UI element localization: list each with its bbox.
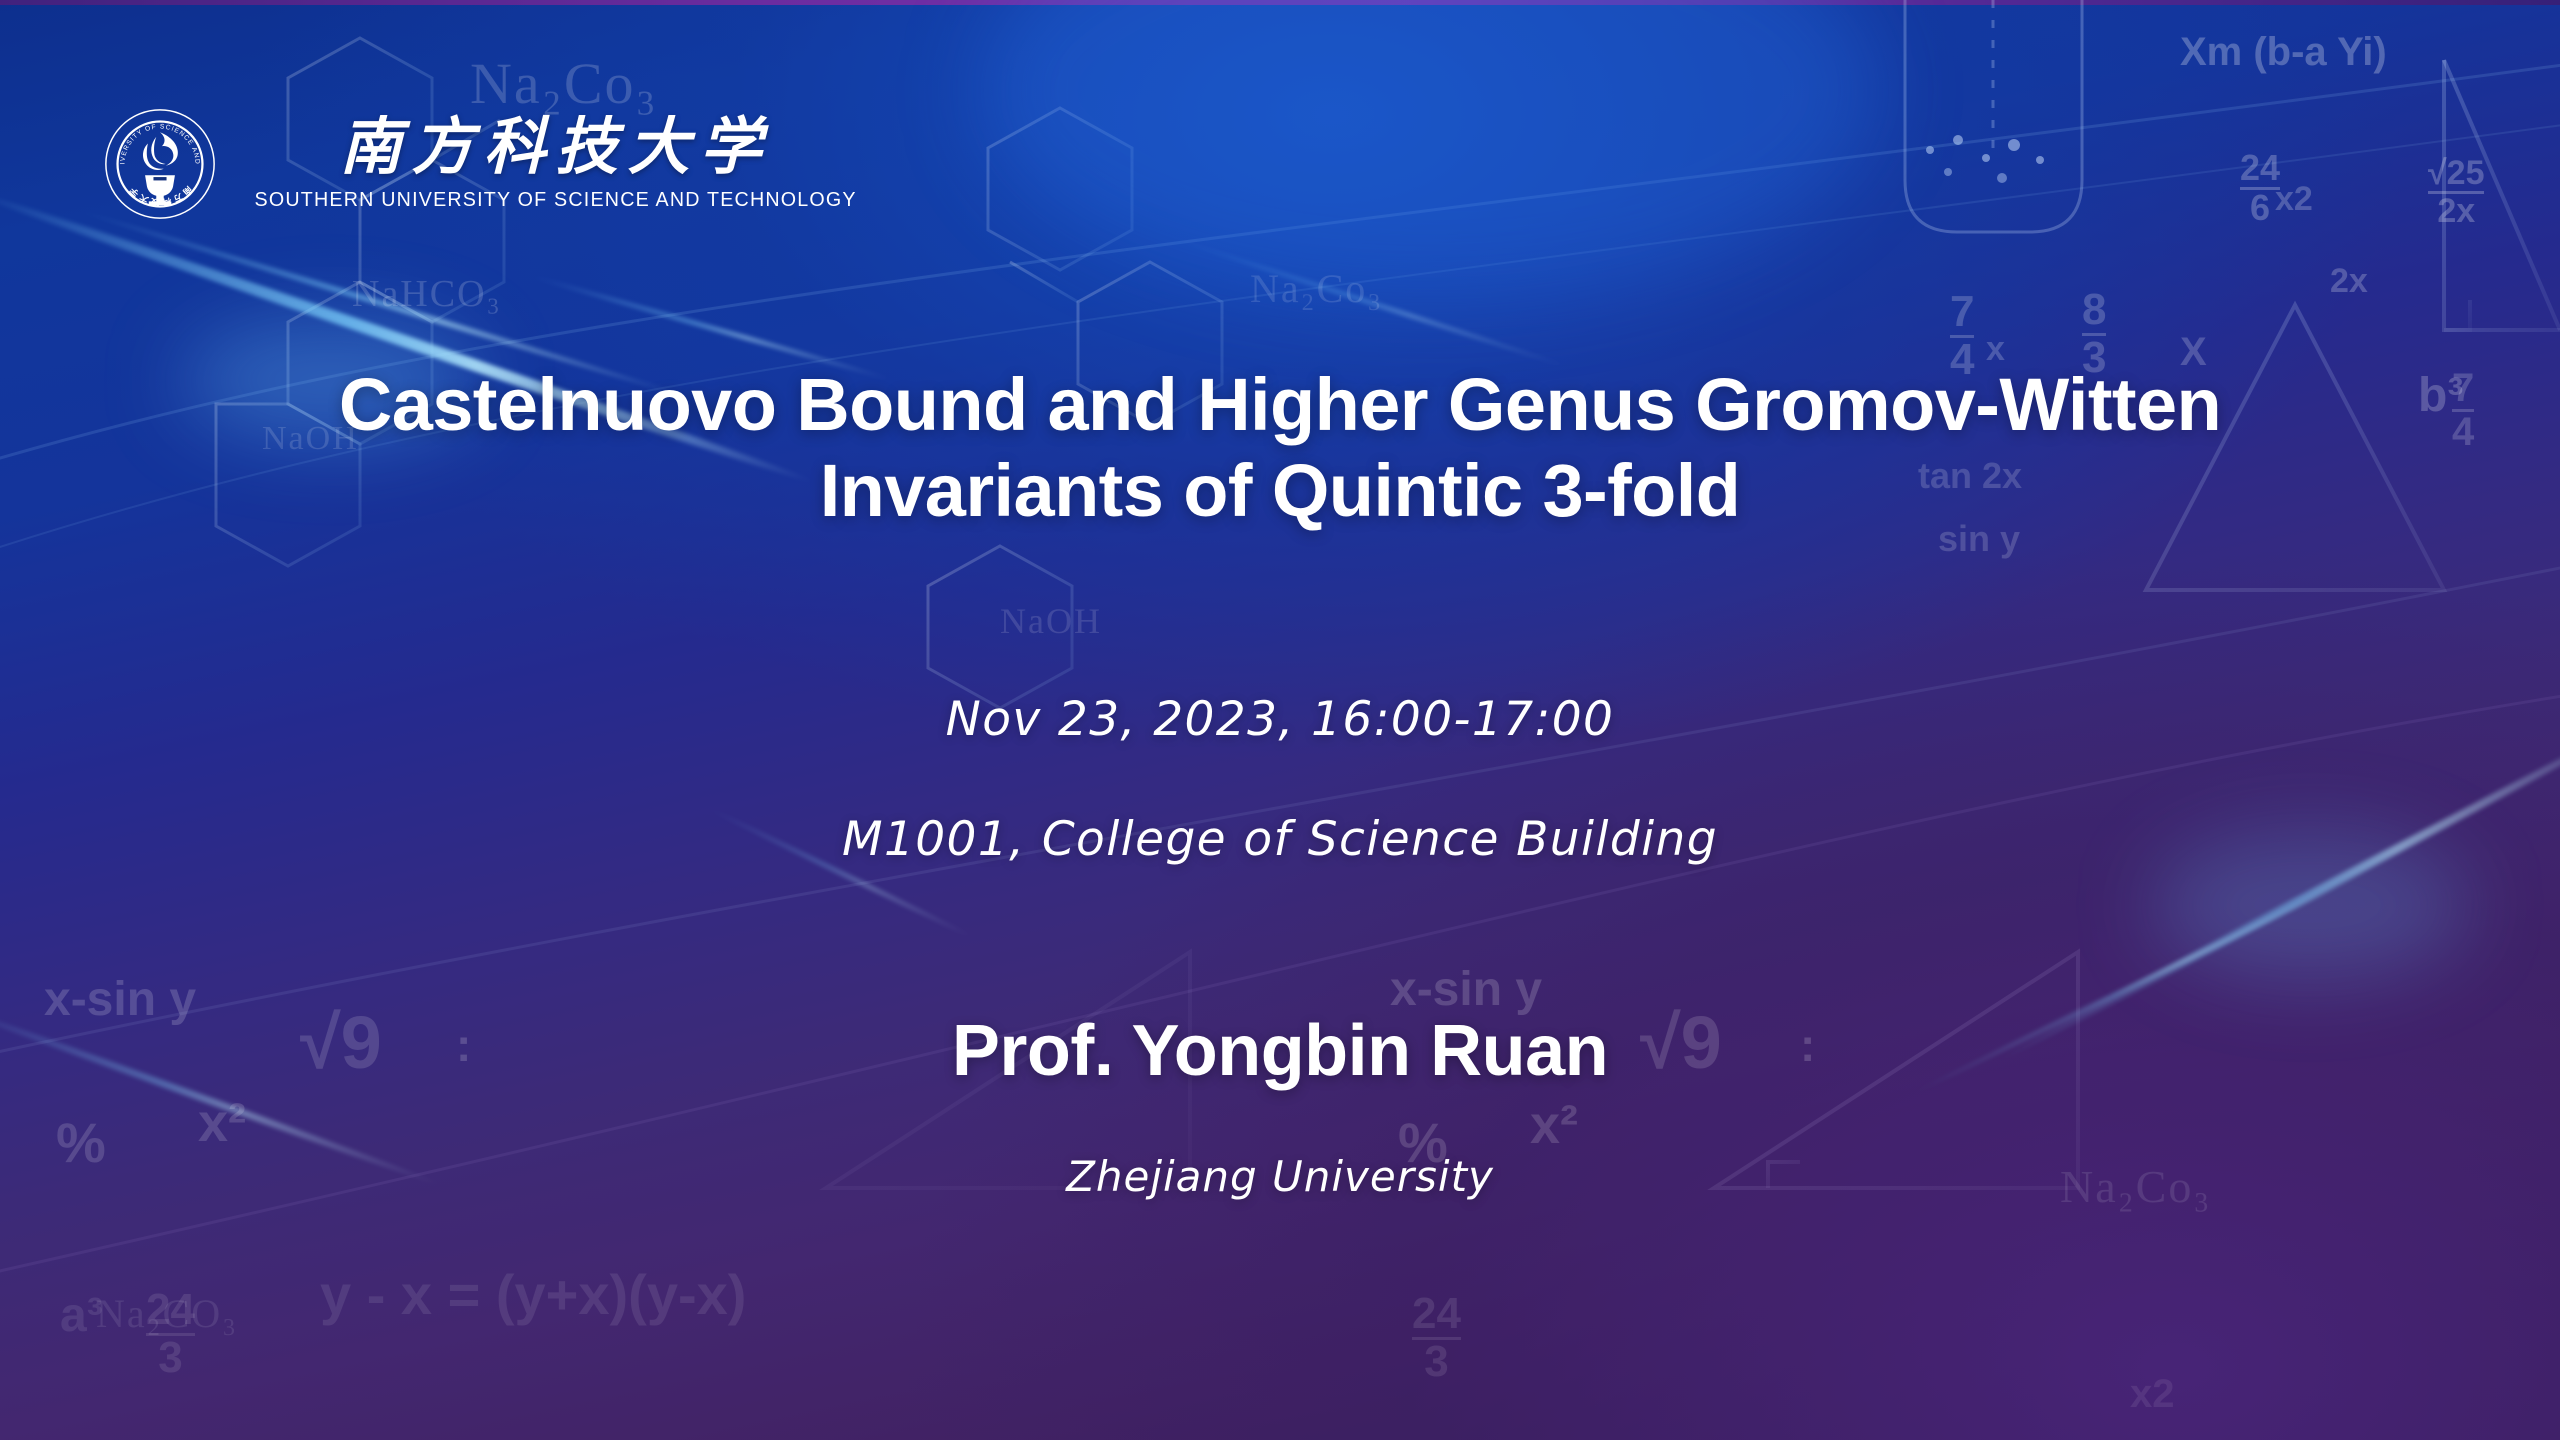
speaker-affiliation: Zhejiang University <box>280 1152 2280 1201</box>
seminar-poster: Na₂Co₃Na₂Co₃NaHCO₃NaOHNaOHNa₂Co₃Na₂CO₃Xm… <box>0 0 2560 1440</box>
speaker-name: Prof. Yongbin Ruan <box>280 1010 2280 1092</box>
talk-title: Castelnuovo Bound and Higher Genus Gromo… <box>190 362 2370 534</box>
poster-content: Castelnuovo Bound and Higher Genus Gromo… <box>0 0 2560 1440</box>
talk-venue: M1001, College of Science Building <box>280 812 2280 867</box>
talk-datetime: Nov 23, 2023, 16:00-17:00 <box>280 692 2280 747</box>
